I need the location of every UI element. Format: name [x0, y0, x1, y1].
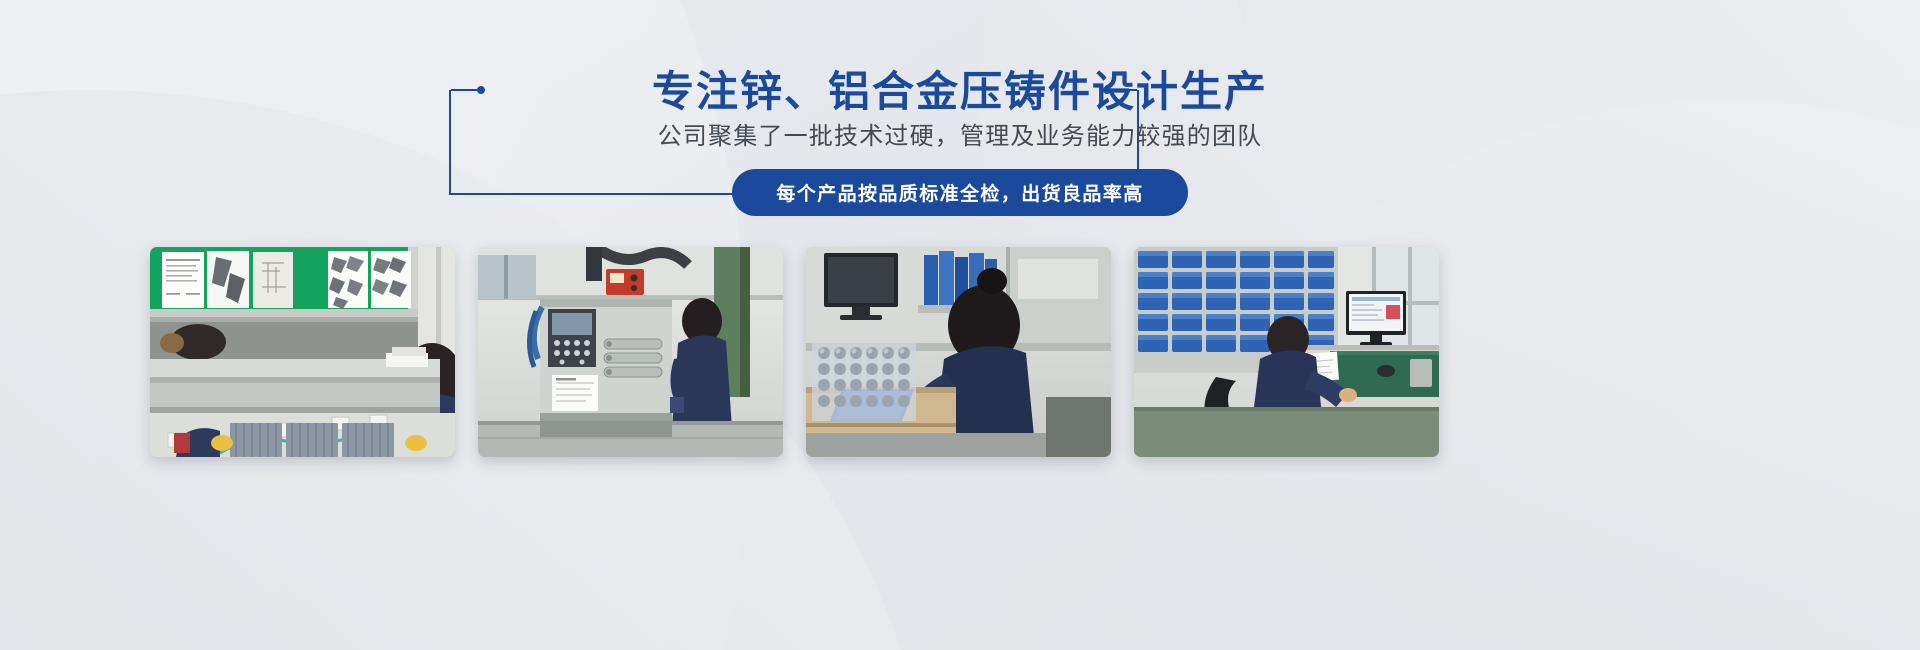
photo-gallery	[150, 247, 1770, 457]
company-banner: 专注锌、铝合金压铸件设计生产 公司聚集了一批技术过硬，管理及业务能力较强的团队 …	[0, 0, 1920, 650]
page-title: 专注锌、铝合金压铸件设计生产	[0, 58, 1920, 119]
photo-inspection-workbench[interactable]	[150, 247, 455, 457]
tagline-badge: 每个产品按品质标准全检，出货良品率高	[732, 169, 1187, 216]
photo-packing-station[interactable]	[806, 247, 1111, 457]
banner-subtitle: 公司聚集了一批技术过硬，管理及业务能力较强的团队	[0, 116, 1920, 151]
tagline-container: 每个产品按品质标准全检，出货良品率高	[0, 169, 1920, 216]
photo-office-computer[interactable]	[1134, 247, 1439, 457]
banner-header: 专注锌、铝合金压铸件设计生产 公司聚集了一批技术过硬，管理及业务能力较强的团队 …	[0, 0, 1920, 235]
photo-die-casting-machine[interactable]	[478, 247, 783, 457]
